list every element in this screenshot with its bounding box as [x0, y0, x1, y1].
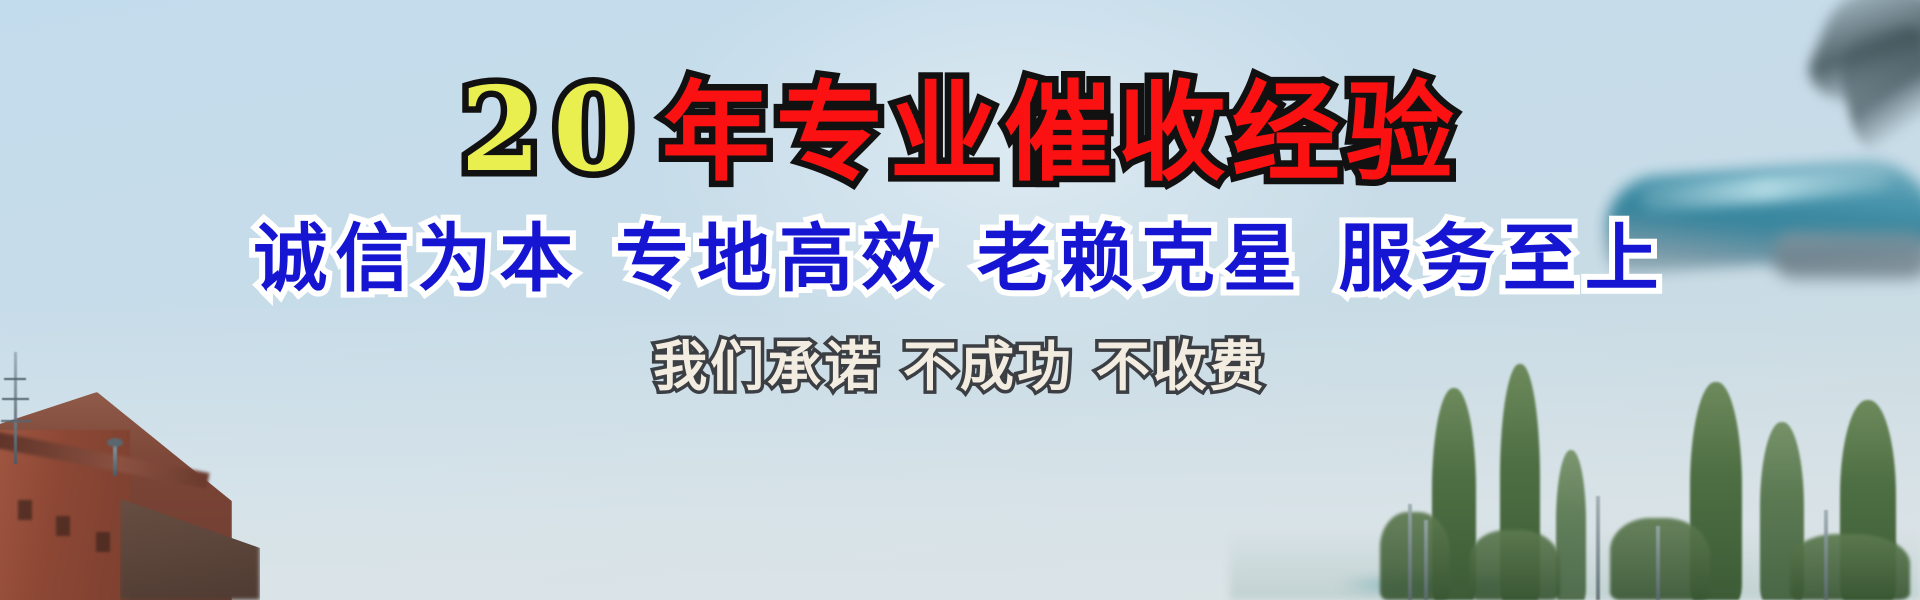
- utility-pole: [1408, 504, 1412, 600]
- utility-pole: [1596, 496, 1600, 600]
- cypress-tree: [1840, 400, 1896, 600]
- ground-haze: [1230, 530, 1920, 600]
- cypress-tree: [1556, 450, 1586, 600]
- tagline: 诚信为本 专地高效 老赖克星 服务至上: [0, 222, 1920, 296]
- teal-streak: [1340, 578, 1570, 592]
- antenna-crossbar: [2, 398, 29, 400]
- headline: 20年专业催收经验: [0, 72, 1920, 188]
- shrub: [1610, 518, 1710, 600]
- cypress-tree: [1432, 388, 1476, 600]
- roof-finial-cap: [107, 438, 123, 447]
- headline-years-number: 20: [460, 72, 645, 188]
- building-window: [18, 500, 32, 520]
- shrub: [1790, 534, 1910, 600]
- roof-finial: [113, 440, 117, 476]
- building-window: [96, 532, 110, 552]
- building-ridge: [0, 431, 210, 489]
- cypress-tree: [1690, 382, 1742, 600]
- cypress-tree: [1500, 364, 1540, 600]
- utility-pole: [1824, 510, 1828, 600]
- headline-main-text: 年专业催收经验: [662, 80, 1460, 188]
- shrub: [1470, 530, 1560, 600]
- building-roof: [0, 392, 232, 600]
- antenna-crossbar: [1, 420, 31, 422]
- building-window: [56, 516, 70, 536]
- promotional-banner: 20年专业催收经验 诚信为本 专地高效 老赖克星 服务至上 我们承诺 不成功 不…: [0, 0, 1920, 600]
- utility-pole: [1656, 526, 1660, 600]
- shrub: [1380, 512, 1450, 600]
- building-shadow: [120, 470, 260, 600]
- building-facade: [0, 430, 130, 600]
- promise-line: 我们承诺 不成功 不收费: [0, 340, 1920, 394]
- utility-pole: [1424, 520, 1428, 600]
- cypress-tree: [1760, 422, 1804, 600]
